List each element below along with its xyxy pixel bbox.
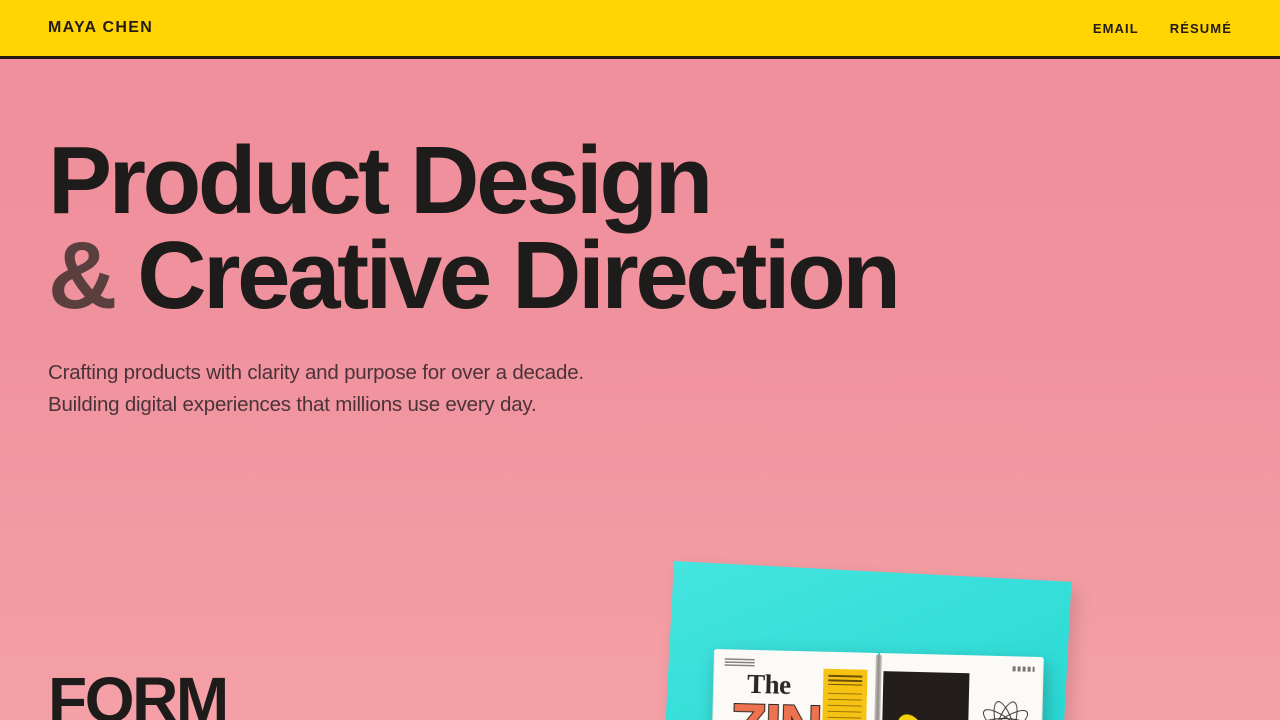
subtitle-line-1: Crafting products with clarity and purpo… (48, 357, 1232, 389)
subtitle-line-2: Building digital experiences that millio… (48, 389, 1232, 421)
nav-link-email[interactable]: EMAIL (1093, 21, 1139, 36)
brand-wordmark[interactable]: MAYA CHEN (48, 19, 153, 37)
atom-illustration-icon (973, 695, 1036, 720)
magazine-right-page (874, 653, 1044, 720)
yellow-column-heading (828, 675, 862, 686)
next-section-peek: FORM (48, 668, 227, 720)
ampersand-glyph: & (48, 222, 114, 329)
magazine-kicker-text (725, 658, 755, 667)
pear-shape-icon (891, 710, 930, 720)
primary-nav: EMAIL RÉSUMÉ (1093, 21, 1232, 36)
headline-line-2: & Creative Direction (48, 228, 1232, 323)
hero-subtitle: Crafting products with clarity and purpo… (48, 357, 1232, 422)
site-header: MAYA CHEN EMAIL RÉSUMÉ (0, 0, 1280, 59)
hero-photo: The ZIN (660, 545, 1120, 720)
magazine-page-number (1013, 666, 1035, 672)
nav-link-resume[interactable]: RÉSUMÉ (1170, 21, 1232, 36)
yellow-column-body-text (824, 693, 862, 720)
magazine-title-zine: ZIN (729, 695, 821, 720)
headline-line-1: Product Design (48, 133, 1232, 228)
magazine-black-panel (879, 671, 970, 720)
magazine-left-page: The ZIN (708, 649, 878, 720)
page-title: Product Design & Creative Direction (48, 133, 1232, 323)
open-magazine: The ZIN (708, 649, 1044, 720)
hero-section: Product Design & Creative Direction Craf… (0, 59, 1280, 422)
magazine-yellow-column (819, 669, 868, 720)
section-title: FORM (48, 668, 227, 720)
headline-line-2-text: Creative Direction (137, 222, 897, 329)
